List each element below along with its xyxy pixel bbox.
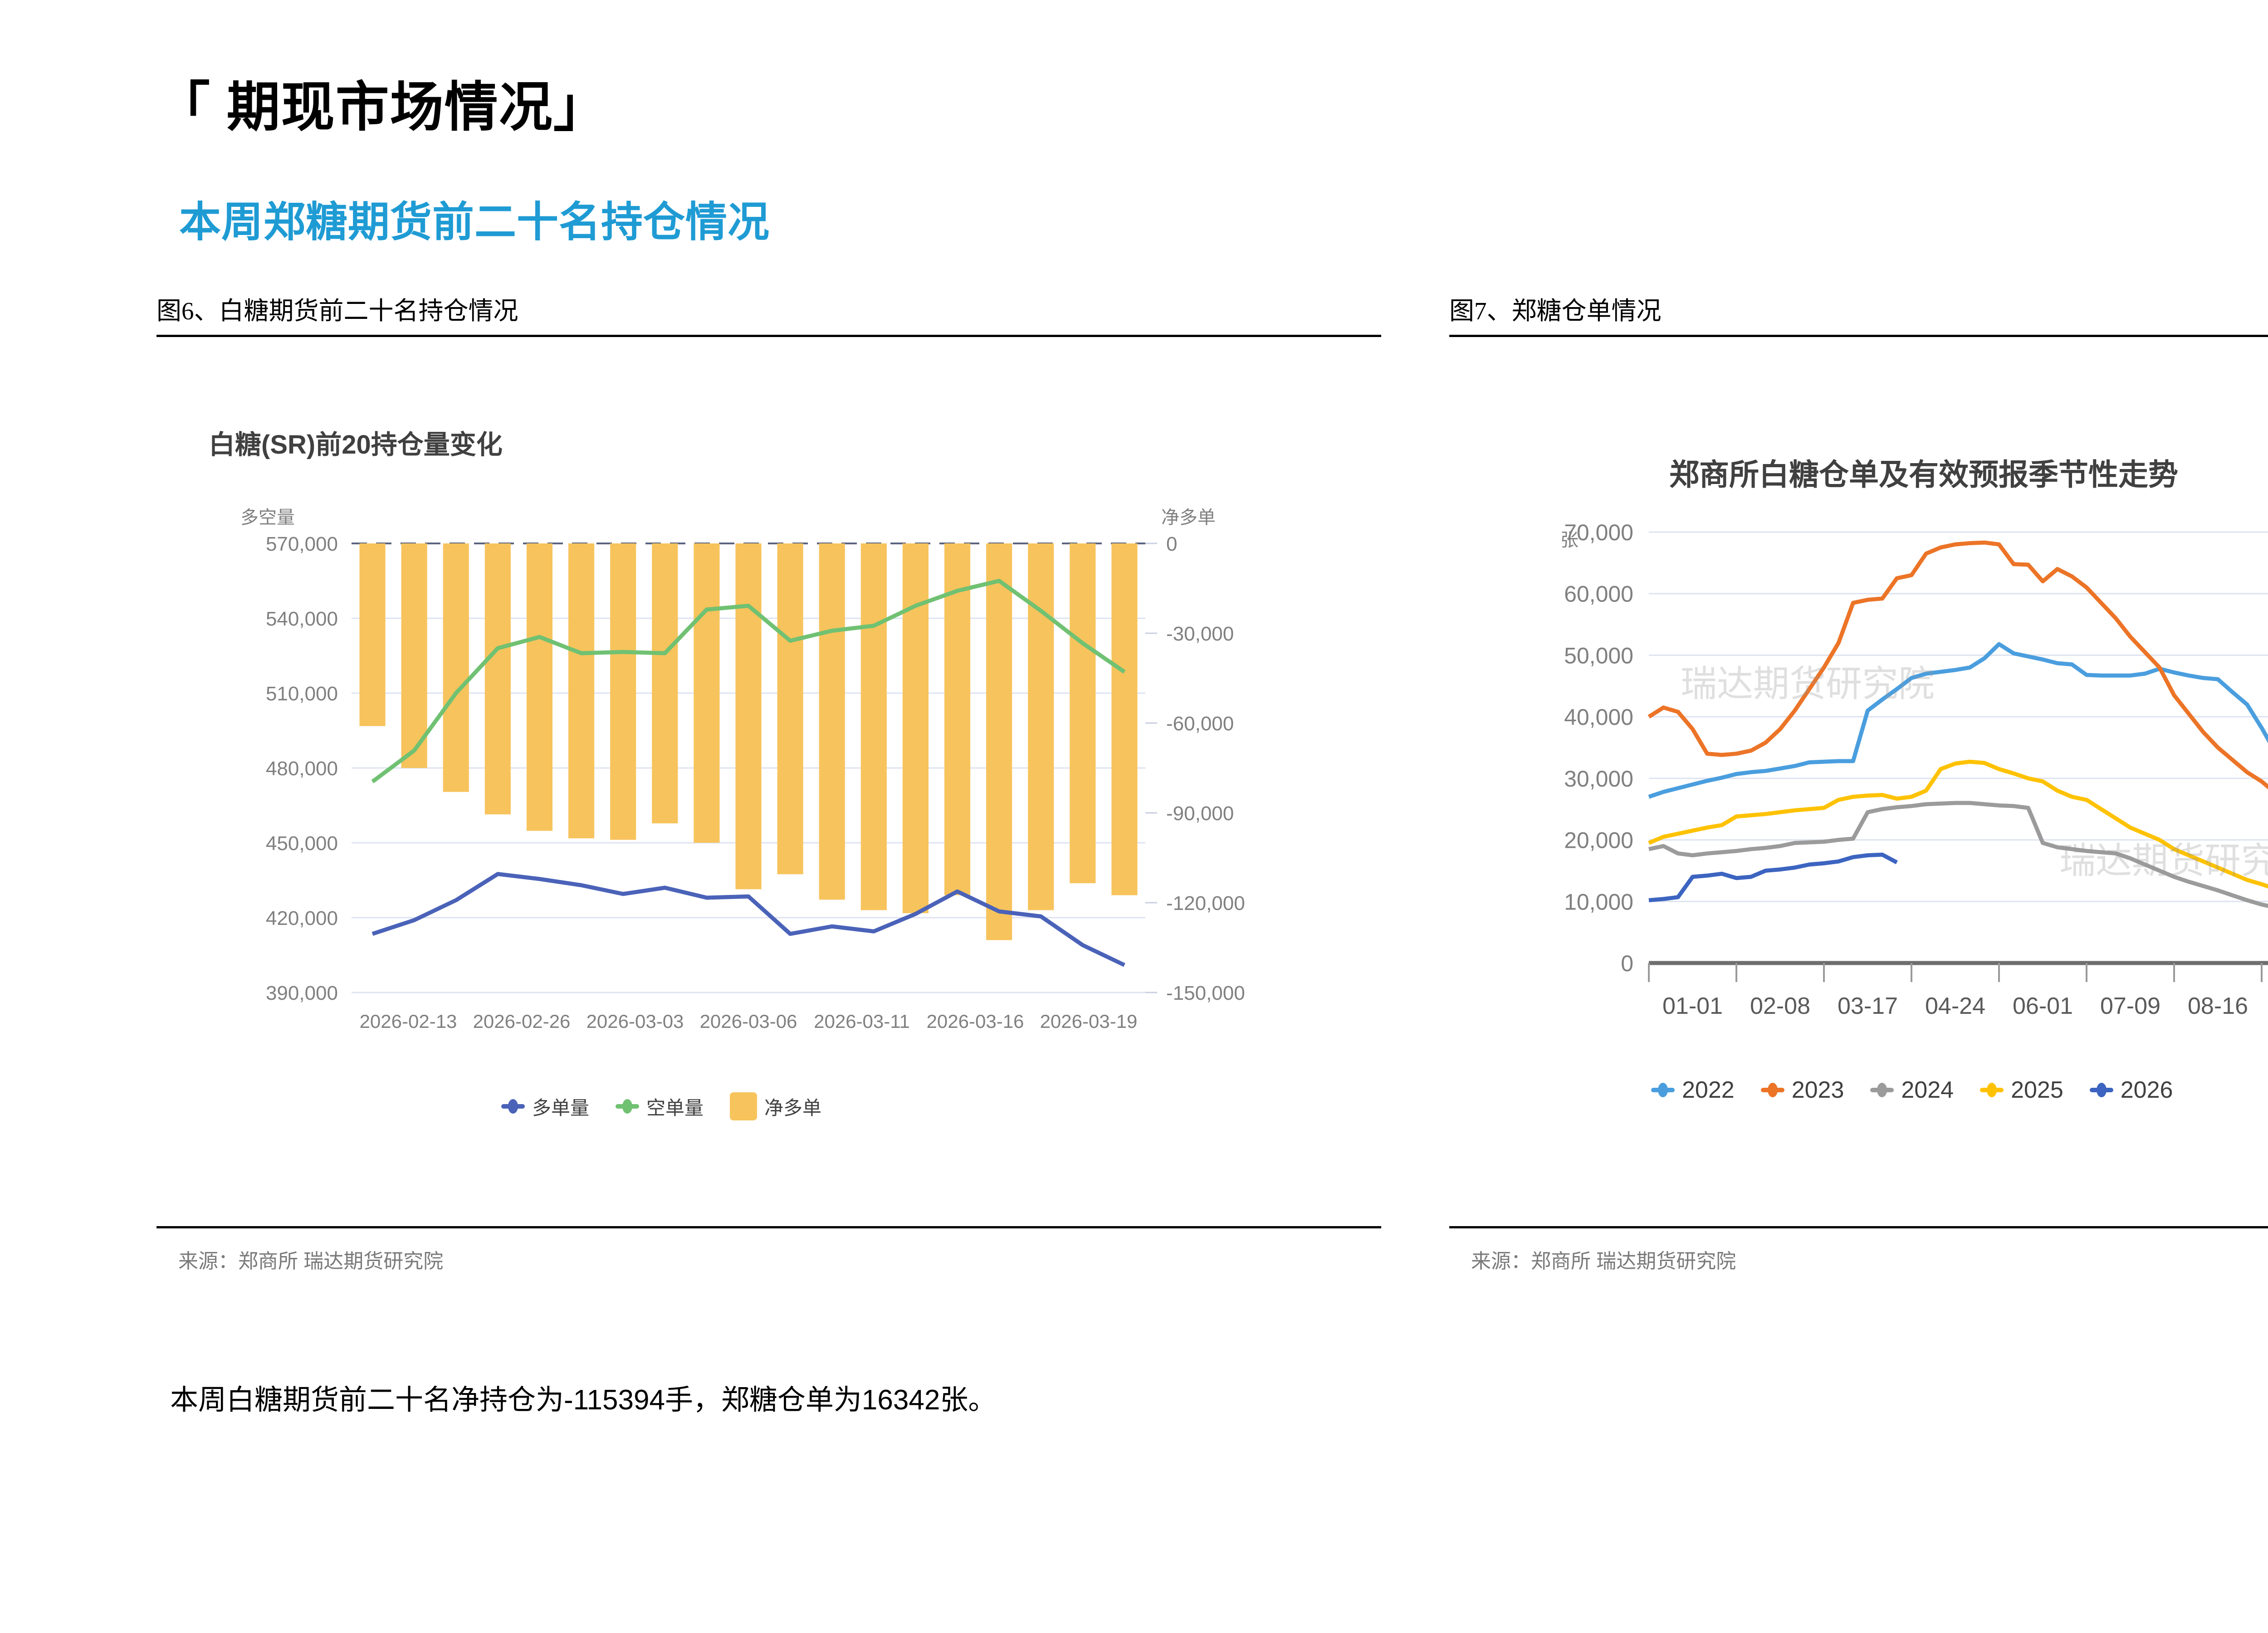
legend-item-空单量[interactable]: 空单量 [616,1093,704,1120]
chart-container-right: 郑商所白糖仓单及有效预报季节性走势 张 70,00060,00050,00040… [1449,337,2268,1226]
svg-text:03-17: 03-17 [1838,993,1898,1019]
svg-text:02-08: 02-08 [1750,993,1810,1019]
svg-text:-30,000: -30,000 [1166,623,1234,645]
chart-container-left: 白糖(SR)前20持仓量变化 多空量 净多单 570,000540,000510… [156,337,1381,1226]
legend-swatch-line [501,1104,525,1109]
legend-swatch-line [1870,1088,1894,1092]
svg-text:0: 0 [1621,951,1633,976]
legend-swatch-line [1761,1088,1784,1092]
legend-label: 2022 [1682,1076,1735,1104]
svg-text:420,000: 420,000 [266,907,338,929]
legend-swatch-line [1980,1088,2004,1092]
legend-swatch-bar [730,1092,757,1120]
legend-swatch-line [1651,1088,1675,1092]
svg-text:-120,000: -120,000 [1166,892,1245,914]
legend-label: 净多单 [764,1093,821,1120]
svg-text:480,000: 480,000 [266,758,338,780]
svg-text:01-01: 01-01 [1662,993,1723,1019]
svg-text:40,000: 40,000 [1564,704,1633,730]
svg-text:-150,000: -150,000 [1166,982,1245,1004]
svg-text:2026-03-19: 2026-03-19 [1040,1011,1138,1032]
legend-label: 2024 [1901,1076,1954,1104]
svg-text:06-01: 06-01 [2013,993,2073,1019]
legend-item-2022[interactable]: 2022 [1651,1076,1735,1104]
svg-text:-90,000: -90,000 [1166,802,1234,825]
source-left: 来源：郑商所 瑞达期货研究院 [156,1228,1381,1274]
chart-sr-top20-positions: 白糖(SR)前20持仓量变化 多空量 净多单 570,000540,000510… [156,337,1381,1226]
svg-text:2026-03-11: 2026-03-11 [814,1011,910,1032]
figure-caption-right: 图7、郑糖仓单情况 [1449,290,2268,335]
svg-text:50,000: 50,000 [1564,643,1633,668]
svg-text:0: 0 [1166,533,1177,555]
svg-text:30,000: 30,000 [1564,766,1633,792]
svg-text:10,000: 10,000 [1564,889,1633,914]
legend-label: 空单量 [646,1093,704,1120]
svg-text:570,000: 570,000 [266,533,338,555]
svg-text:2026-03-16: 2026-03-16 [927,1011,1024,1032]
svg-text:07-09: 07-09 [2100,993,2160,1019]
svg-text:20,000: 20,000 [1564,828,1633,853]
svg-text:2026-03-03: 2026-03-03 [587,1011,684,1032]
svg-text:2026-02-26: 2026-02-26 [473,1011,571,1032]
svg-text:2026-02-13: 2026-02-13 [360,1011,457,1032]
svg-text:510,000: 510,000 [266,683,338,705]
legend-item-净多单[interactable]: 净多单 [730,1092,821,1120]
legend-label: 2026 [2121,1076,2173,1104]
legend-item-多单量[interactable]: 多单量 [501,1093,589,1120]
svg-text:08-16: 08-16 [2188,993,2248,1019]
svg-text:-60,000: -60,000 [1166,713,1234,735]
chart-legend-left: 多单量空单量净多单 [501,1092,821,1120]
legend-label: 多单量 [532,1093,589,1120]
svg-text:450,000: 450,000 [266,832,338,855]
svg-text:540,000: 540,000 [266,608,338,630]
legend-label: 2023 [1792,1076,1844,1104]
chart-zce-sugar-warrants: 郑商所白糖仓单及有效预报季节性走势 张 70,00060,00050,00040… [1449,337,2268,1226]
svg-text:390,000: 390,000 [266,982,338,1004]
legend-item-2026[interactable]: 2026 [2090,1076,2173,1104]
legend-label: 2025 [2011,1076,2063,1104]
source-right: 来源：郑商所 瑞达期货研究院 [1449,1228,2268,1274]
legend-item-2025[interactable]: 2025 [1980,1076,2063,1104]
figure-caption-left: 图6、白糖期货前二十名持仓情况 [156,290,1381,335]
legend-item-2023[interactable]: 2023 [1761,1076,1844,1104]
legend-swatch-line [616,1104,639,1109]
svg-text:04-24: 04-24 [1925,993,1985,1019]
svg-text:60,000: 60,000 [1564,582,1633,607]
chart-legend-right: 20222023202420252026 [1651,1076,2173,1104]
page-title: 「 期现市场情况」 [156,64,608,141]
svg-text:70,000: 70,000 [1564,520,1633,545]
panel-right: 图7、郑糖仓单情况 郑商所白糖仓单及有效预报季节性走势 张 70,00060,0… [1449,290,2268,1274]
summary-text: 本周白糖期货前二十名净持仓为-115394手，郑糖仓单为16342张。 [170,1377,996,1418]
panel-left: 图6、白糖期货前二十名持仓情况 白糖(SR)前20持仓量变化 多空量 净多单 5… [156,290,1381,1274]
legend-item-2024[interactable]: 2024 [1870,1076,1954,1104]
page-subtitle: 本周郑糖期货前二十名持仓情况 [179,188,770,249]
legend-swatch-line [2090,1088,2113,1092]
svg-text:2026-03-06: 2026-03-06 [700,1011,797,1032]
